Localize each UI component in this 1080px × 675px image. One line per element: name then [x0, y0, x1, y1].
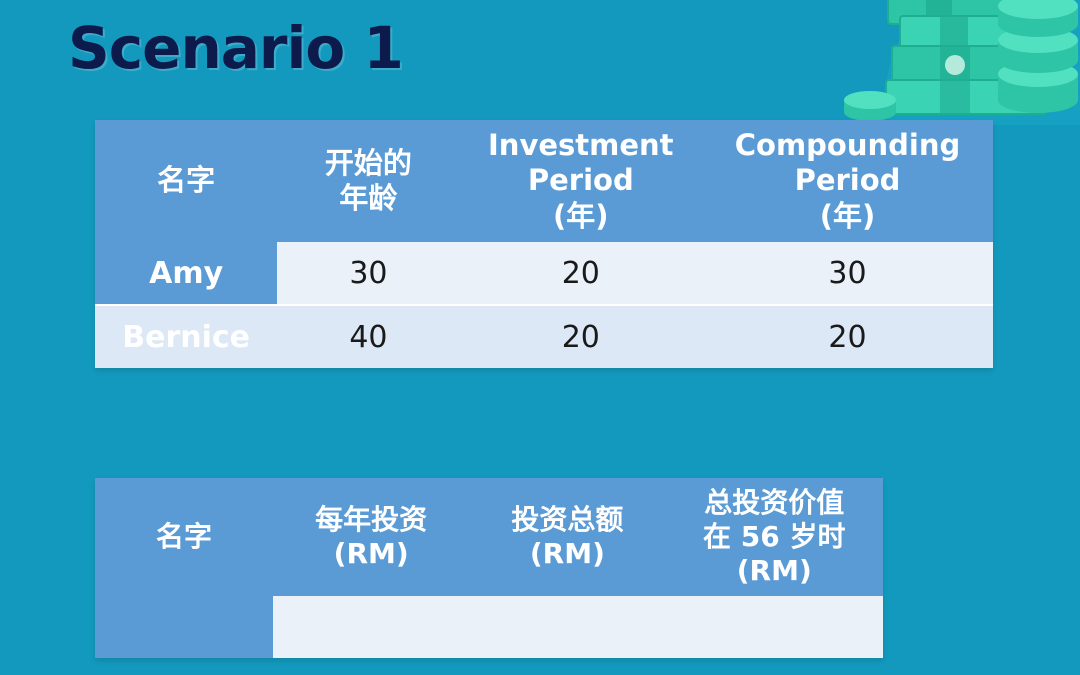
table-row: Amy 30 20 30 — [95, 242, 993, 305]
table-header-row: 名字 每年投资 (RM) 投资总额 (RM) 总投资价值 在 56 岁时 (RM… — [95, 478, 883, 596]
table-row — [95, 596, 883, 658]
cell-compounding-period: 30 — [702, 242, 993, 305]
cell-name: Amy — [95, 242, 277, 305]
table-header-row: 名字 开始的 年龄 Investment Period (年) Compound… — [95, 120, 993, 242]
column-header-total-investment: 投资总额 (RM) — [469, 478, 665, 596]
money-stacks-illustration — [640, 0, 1080, 125]
header-line-2: 在 56 岁时 — [669, 520, 879, 554]
header-line-2: 年龄 — [281, 181, 455, 216]
header-line-1: 投资总额 — [473, 503, 661, 537]
header-line-1: 总投资价值 — [669, 486, 879, 520]
cell-total-value — [665, 596, 883, 658]
cell-name — [95, 596, 273, 658]
table-row: Bernice 40 20 20 — [95, 305, 993, 368]
cell-investment-period: 20 — [460, 305, 702, 368]
header-line-1: Investment — [464, 128, 698, 163]
header-line-2: Period — [706, 163, 989, 198]
cell-annual-investment — [273, 596, 469, 658]
header-line-1: Compounding — [706, 128, 989, 163]
column-header-annual-investment: 每年投资 (RM) — [273, 478, 469, 596]
cell-compounding-period: 20 — [702, 305, 993, 368]
column-header-name: 名字 — [95, 478, 273, 596]
column-header-total-value-at-56: 总投资价值 在 56 岁时 (RM) — [665, 478, 883, 596]
header-line-1: 每年投资 — [277, 503, 465, 537]
header-line-3: (年) — [706, 199, 989, 234]
header-line-3: (年) — [464, 199, 698, 234]
column-header-name: 名字 — [95, 120, 277, 242]
scenario-parameters-table: 名字 开始的 年龄 Investment Period (年) Compound… — [95, 120, 993, 368]
column-header-start-age: 开始的 年龄 — [277, 120, 459, 242]
header-line-2: (RM) — [473, 537, 661, 571]
column-header-investment-period: Investment Period (年) — [460, 120, 702, 242]
cell-start-age: 40 — [277, 305, 459, 368]
header-line-2: (RM) — [277, 537, 465, 571]
cell-start-age: 30 — [277, 242, 459, 305]
page-title: Scenario 1 — [68, 14, 403, 82]
header-line-1: 名字 — [99, 520, 269, 554]
column-header-compounding-period: Compounding Period (年) — [702, 120, 993, 242]
cell-total-investment — [469, 596, 665, 658]
header-line-3: (RM) — [669, 554, 879, 588]
investment-value-table: 名字 每年投资 (RM) 投资总额 (RM) 总投资价值 在 56 岁时 (RM… — [95, 478, 883, 658]
header-line-2: Period — [464, 163, 698, 198]
cell-investment-period: 20 — [460, 242, 702, 305]
header-line-1: 开始的 — [281, 146, 455, 181]
cell-name: Bernice — [95, 305, 277, 368]
header-line-1: 名字 — [99, 163, 273, 198]
